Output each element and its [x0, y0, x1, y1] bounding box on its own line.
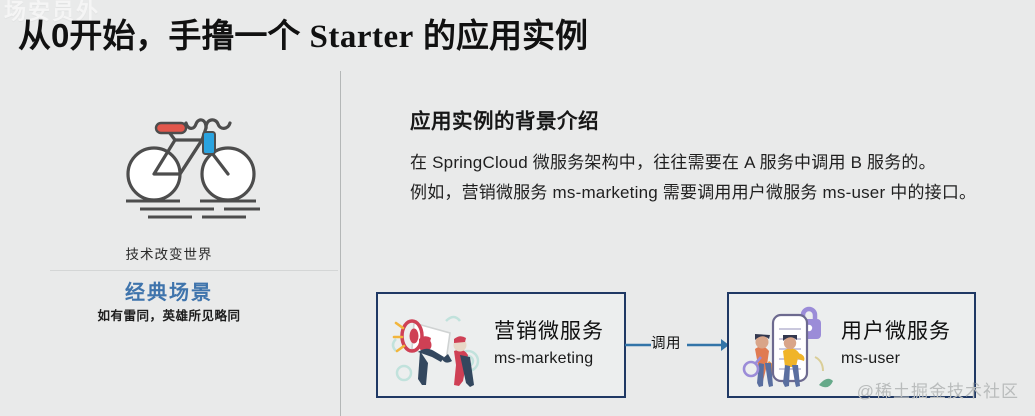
left-caption-secondary: 如有雷同，英雄所见略同	[0, 305, 338, 324]
mobile-user-lock-icon	[735, 299, 839, 391]
page-title-prefix: 从0开始，手撸一个	[18, 17, 310, 54]
page-title-latin: Starter	[310, 19, 414, 55]
service-name-cn: 用户微服务	[841, 318, 951, 346]
service-label-group: 用户微服务 ms-user	[841, 318, 951, 372]
watermark-bottom-right: @稀土掘金技术社区	[857, 377, 1019, 402]
service-box-ms-marketing[interactable]: 营销微服务 ms-marketing	[376, 292, 626, 398]
left-caption-primary: 技术改变世界	[0, 243, 338, 263]
left-panel: 技术改变世界 经典场景 如有雷同，英雄所见略同	[0, 80, 338, 416]
section-heading: 应用实例的背景介绍	[410, 104, 1020, 134]
megaphone-marketing-icon	[384, 299, 488, 391]
left-caption-highlight: 经典场景	[0, 276, 338, 305]
right-panel: 应用实例的背景介绍 在 SpringCloud 微服务架构中，往往需要在 A 服…	[380, 80, 1020, 208]
service-label-group: 营销微服务 ms-marketing	[494, 318, 604, 372]
service-name-en: ms-user	[841, 346, 951, 372]
page-title-suffix: 的应用实例	[414, 17, 588, 54]
service-name-en: ms-marketing	[494, 346, 604, 372]
service-name-cn: 营销微服务	[494, 318, 604, 346]
background-paragraph-2: 例如，营销微服务 ms-marketing 需要调用用户微服务 ms-user …	[410, 178, 990, 208]
page-title: 从0开始，手撸一个 Starter 的应用实例	[18, 9, 588, 57]
column-divider	[340, 71, 341, 416]
arrow-label: 调用	[651, 332, 681, 353]
left-caption-divider	[50, 270, 338, 271]
bicycle-icon	[118, 110, 268, 220]
background-paragraph-1: 在 SpringCloud 微服务架构中，往往需要在 A 服务中调用 B 服务的…	[410, 148, 990, 178]
